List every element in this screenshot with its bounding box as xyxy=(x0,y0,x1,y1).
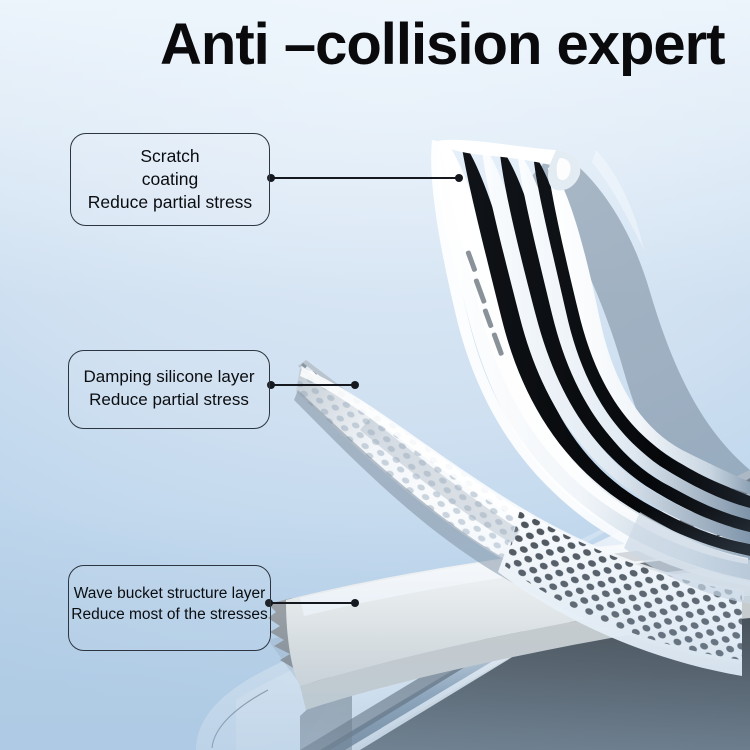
page-title: Anti –collision expert xyxy=(160,12,725,79)
connector-line-scratch-coating xyxy=(270,177,460,179)
product-feature-graphic: Anti –collision expert Scratch coating R… xyxy=(0,0,750,750)
connector-line-damping-silicone xyxy=(270,384,356,386)
callout-damping-silicone-layer: Damping silicone layer Reduce partial st… xyxy=(68,350,270,429)
connector-line-wave-bucket xyxy=(268,602,356,604)
callout-1-line-2: coating xyxy=(142,168,198,191)
callout-wave-bucket-structure-layer: Wave bucket structure layer Reduce most … xyxy=(68,565,271,651)
callout-3-line-1: Wave bucket structure layer xyxy=(74,583,266,604)
callout-1-line-3: Reduce partial stress xyxy=(88,191,252,214)
callout-scratch-coating: Scratch coating Reduce partial stress xyxy=(70,133,270,226)
callout-3-line-2: Reduce most of the stresses xyxy=(71,604,267,625)
callout-2-line-1: Damping silicone layer xyxy=(83,365,254,388)
callout-2-line-2: Reduce partial stress xyxy=(89,388,249,411)
callout-1-line-1: Scratch xyxy=(140,145,199,168)
